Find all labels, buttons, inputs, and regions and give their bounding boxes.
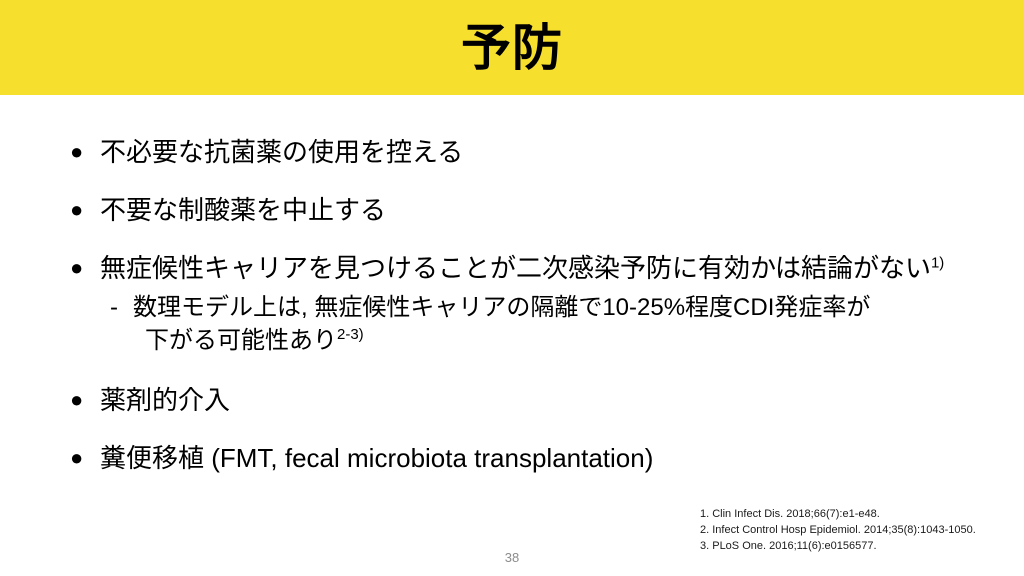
- sub-list-item-line2: 下がる可能性あり: [145, 327, 337, 354]
- list-item-text: 糞便移植 (FMT, fecal microbiota transplantat…: [100, 443, 653, 473]
- dash-marker-icon: -: [110, 291, 133, 324]
- list-item: ● 糞便移植 (FMT, fecal microbiota transplant…: [70, 443, 990, 473]
- page-number: 38: [0, 550, 1024, 565]
- page-title: 予防: [461, 23, 563, 73]
- list-item-label: 不必要な抗菌薬の使用を控える: [100, 137, 990, 167]
- slide-body: ● 不必要な抗菌薬の使用を控える ● 不要な制酸薬を中止する ● 無症候性キャリ…: [0, 95, 1024, 576]
- list-item-text: 不必要な抗菌薬の使用を控える: [100, 137, 463, 167]
- title-banner: 予防: [0, 0, 1024, 95]
- reference-item: 1. Clin Infect Dis. 2018;66(7):e1-e48.: [700, 506, 1020, 522]
- list-item-text: 薬剤的介入: [100, 385, 230, 415]
- list-item-label: 糞便移植 (FMT, fecal microbiota transplantat…: [100, 443, 990, 473]
- reference-superscript: 2-3): [337, 326, 364, 343]
- bullet-dot-icon: ●: [70, 195, 100, 225]
- list-item-text: 無症候性キャリアを見つけることが二次感染予防に有効かは結論がない: [100, 253, 931, 283]
- list-item-label: 無症候性キャリアを見つけることが二次感染予防に有効かは結論がない1): [100, 253, 990, 283]
- references-list: 1. Clin Infect Dis. 2018;66(7):e1-e48. 2…: [700, 506, 1020, 554]
- sub-list: - 数理モデル上は, 無症候性キャリアの隔離で10-25%程度CDI発症率が下が…: [110, 291, 990, 357]
- reference-item: 2. Infect Control Hosp Epidemiol. 2014;3…: [700, 522, 1020, 538]
- list-item-text: 不要な制酸薬を中止する: [100, 195, 386, 225]
- list-item-label: 不要な制酸薬を中止する: [100, 195, 990, 225]
- list-item: ● 不要な制酸薬を中止する: [70, 195, 990, 225]
- bullet-list: ● 不必要な抗菌薬の使用を控える ● 不要な制酸薬を中止する ● 無症候性キャリ…: [70, 137, 990, 473]
- list-item-label: 薬剤的介入: [100, 385, 990, 415]
- sub-list-item: - 数理モデル上は, 無症候性キャリアの隔離で10-25%程度CDI発症率が下が…: [110, 291, 990, 357]
- slide: 予防 ● 不必要な抗菌薬の使用を控える ● 不要な制酸薬を中止する ● 無症候性…: [0, 0, 1024, 576]
- list-item: ● 薬剤的介入: [70, 385, 990, 415]
- list-item: ● 無症候性キャリアを見つけることが二次感染予防に有効かは結論がない1): [70, 253, 990, 283]
- sub-list-item-line2-wrap: 下がる可能性あり2-3): [145, 324, 990, 357]
- reference-superscript: 1): [931, 254, 944, 271]
- bullet-dot-icon: ●: [70, 253, 100, 283]
- sub-list-item-label: 数理モデル上は, 無症候性キャリアの隔離で10-25%程度CDI発症率が下がる可…: [133, 291, 990, 357]
- list-item: ● 不必要な抗菌薬の使用を控える: [70, 137, 990, 167]
- sub-list-item-line1: 数理モデル上は, 無症候性キャリアの隔離で10-25%程度CDI発症率が: [133, 294, 870, 321]
- bullet-dot-icon: ●: [70, 137, 100, 167]
- bullet-dot-icon: ●: [70, 385, 100, 415]
- bullet-dot-icon: ●: [70, 443, 100, 473]
